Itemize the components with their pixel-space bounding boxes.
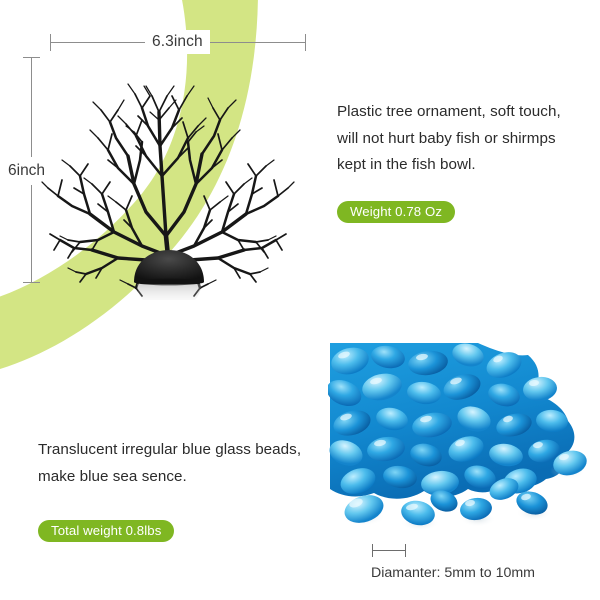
bead-diameter-bracket-cap-left (372, 544, 373, 557)
beads-weight-badge: Total weight 0.8lbs (38, 520, 174, 542)
width-dimension-cap-left (50, 34, 51, 51)
width-dimension-cap-right (305, 34, 306, 51)
product-infographic: 6.3inch 6inch (0, 0, 600, 600)
tree-description-text: Plastic tree ornament, soft touch, will … (337, 99, 585, 179)
bead-diameter-bracket (372, 550, 406, 551)
coral-tree-icon (38, 50, 298, 300)
beads-description-text: Translucent irregular blue glass beads, … (38, 437, 306, 490)
bead-diameter-bracket-cap-right (405, 544, 406, 557)
bead-diameter-caption: Diamanter: 5mm to 10mm (371, 563, 535, 583)
blue-glass-beads-photo (328, 341, 600, 545)
tree-weight-badge: Weight 0.78 Oz (337, 201, 455, 223)
